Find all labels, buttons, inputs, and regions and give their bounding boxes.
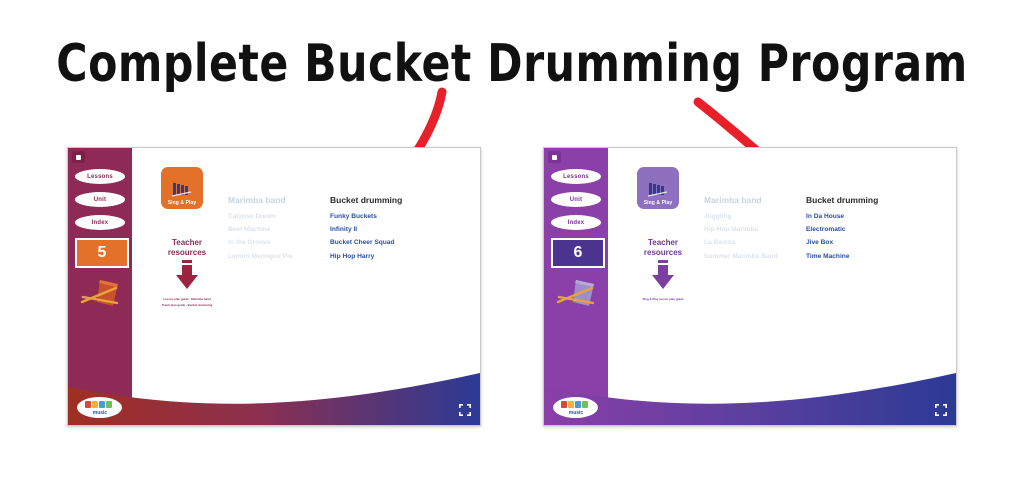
bucket-and-drumsticks-icon — [80, 276, 124, 310]
teacher-resources-block-right[interactable]: Teacher resources Sing & Play lesson pla… — [632, 238, 694, 303]
marimba-icon — [171, 181, 193, 198]
bucket-drumming-column-right: Bucket drumming In Da House Electromatic… — [806, 194, 916, 263]
fullscreen-icon[interactable] — [935, 404, 947, 416]
unit-number-badge[interactable]: 6 — [551, 238, 605, 268]
logo-icon: music — [83, 400, 117, 416]
download-arrow-icon[interactable] — [650, 260, 676, 290]
fullscreen-icon[interactable] — [459, 404, 471, 416]
teacher-resources-title-line2: resources — [632, 248, 694, 258]
list-item[interactable]: Funky Buckets — [330, 210, 440, 223]
brand-logo-right: music — [553, 397, 598, 418]
footer-wave-left — [68, 369, 480, 425]
teacher-resources-block-left[interactable]: Teacher resources Lesson plan guide - Ma… — [156, 238, 218, 308]
column-heading-bucket-drumming: Bucket drumming — [806, 194, 916, 207]
teacher-resources-title-line1: Teacher — [156, 238, 218, 248]
list-item[interactable]: In Da House — [806, 210, 916, 223]
teacher-resources-title-line1: Teacher — [632, 238, 694, 248]
sidebar-item-lessons[interactable]: Lessons — [75, 169, 125, 184]
sidebar-item-index[interactable]: Index — [75, 215, 125, 230]
teacher-note-line1: Sing & Play lesson plan guide — [632, 297, 694, 301]
app-screenshot-unit-6: Lessons Unit Index 6 Sing & Play Teacher… — [543, 147, 957, 426]
teacher-resources-title-line2: resources — [156, 248, 218, 258]
list-item[interactable]: La Bamba — [704, 236, 804, 249]
sing-and-play-label: Sing & Play — [644, 200, 673, 206]
svg-text:music: music — [92, 410, 107, 416]
bucket-and-drumsticks-icon — [556, 276, 600, 310]
list-item[interactable]: Infinity II — [330, 223, 440, 236]
close-icon[interactable] — [548, 151, 561, 163]
list-item[interactable]: Time Machine — [806, 250, 916, 263]
marimba-band-column-right: Marimba band Juggling Hip Hop Marimba La… — [704, 194, 804, 263]
column-heading-bucket-drumming: Bucket drumming — [330, 194, 440, 207]
column-heading-marimba-band: Marimba band — [704, 194, 804, 207]
list-item[interactable]: Juggling — [704, 210, 804, 223]
app-screenshot-unit-5: Lessons Unit Index 5 Sing & Play Teacher… — [67, 147, 481, 426]
marimba-band-column-left: Marimba band Calypso Dream Beat Machine … — [228, 194, 328, 263]
list-item[interactable]: Calypso Dream — [228, 210, 328, 223]
list-item[interactable]: Lemon Meringue Pie — [228, 250, 328, 263]
column-heading-marimba-band: Marimba band — [228, 194, 328, 207]
list-item[interactable]: Electromatic — [806, 223, 916, 236]
svg-text:music: music — [568, 410, 583, 416]
bucket-drumming-column-left: Bucket drumming Funky Buckets Infinity I… — [330, 194, 440, 263]
list-item[interactable]: Hip Hop Marimba — [704, 223, 804, 236]
teacher-note-line2: Teach plan guide - Bucket drumming — [156, 303, 218, 307]
sing-and-play-label: Sing & Play — [168, 200, 197, 206]
list-item[interactable]: Jive Box — [806, 236, 916, 249]
sing-and-play-tile[interactable]: Sing & Play — [637, 167, 679, 209]
sidebar-item-unit[interactable]: Unit — [75, 192, 125, 207]
teacher-note-line1: Lesson plan guide - Marimba band — [156, 297, 218, 301]
sidebar-item-unit[interactable]: Unit — [551, 192, 601, 207]
unit-number-badge[interactable]: 5 — [75, 238, 129, 268]
sidebar-item-index[interactable]: Index — [551, 215, 601, 230]
logo-icon: music — [559, 400, 593, 416]
brand-logo-left: music — [77, 397, 122, 418]
marimba-icon — [647, 181, 669, 198]
list-item[interactable]: Bucket Cheer Squad — [330, 236, 440, 249]
list-item[interactable]: In the Groove — [228, 236, 328, 249]
close-icon[interactable] — [72, 151, 85, 163]
list-item[interactable]: Beat Machine — [228, 223, 328, 236]
sing-and-play-tile[interactable]: Sing & Play — [161, 167, 203, 209]
download-arrow-icon[interactable] — [174, 260, 200, 290]
page-title: Complete Bucket Drumming Program — [15, 34, 1008, 94]
sidebar-item-lessons[interactable]: Lessons — [551, 169, 601, 184]
list-item[interactable]: Hip Hop Harry — [330, 250, 440, 263]
footer-wave-right — [544, 369, 956, 425]
list-item[interactable]: Summer Marimba Band — [704, 250, 804, 263]
